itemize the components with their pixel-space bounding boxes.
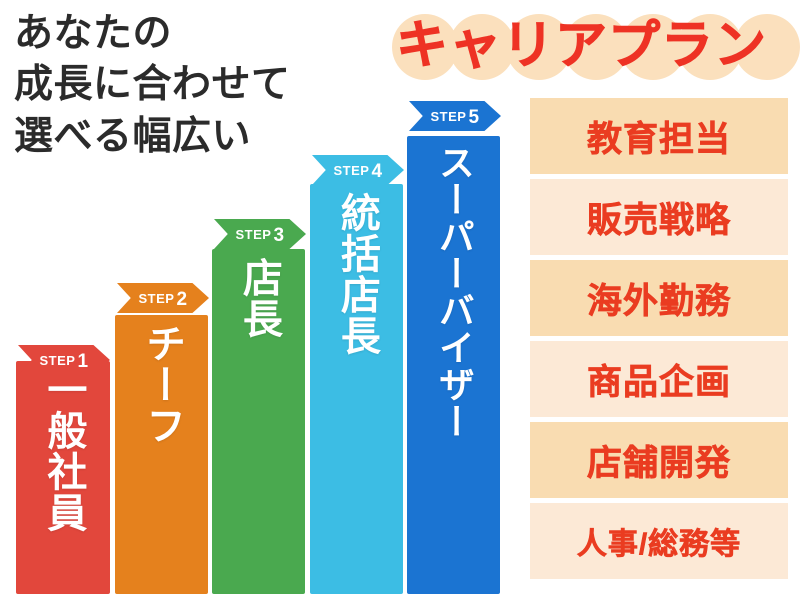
step-position-label-4: 統括店長 [336, 192, 377, 356]
career-option-item[interactable]: 人事/総務等 [530, 503, 788, 579]
step-badge-label-5: STEP [430, 109, 466, 124]
step-badge-label-3: STEP [235, 227, 271, 242]
page-title-text: キャリアプラン [392, 20, 771, 72]
step-bar-5[interactable]: スーパーバイザー [407, 136, 500, 594]
career-option-item[interactable]: 販売戦略 [530, 179, 788, 255]
step-bar-4[interactable]: 統括店長 [310, 184, 403, 594]
step-bar-3[interactable]: 店長 [212, 249, 305, 594]
career-option-item[interactable]: 店舗開発 [530, 422, 788, 498]
step-position-label-2: チーフ [141, 323, 182, 446]
step-badge-label-1: STEP [39, 353, 75, 368]
step-bar-2[interactable]: チーフ [115, 315, 208, 594]
step-badge-2[interactable]: STEP2 [117, 283, 209, 313]
career-option-item[interactable]: 教育担当 [530, 98, 788, 174]
step-badge-1[interactable]: STEP1 [18, 345, 110, 375]
step-badge-4[interactable]: STEP4 [312, 155, 404, 185]
step-bar-chart: 一般社員STEP1チーフSTEP2店長STEP3統括店長STEP4スーパーバイザ… [0, 0, 520, 600]
step-badge-number-3: 3 [273, 226, 284, 245]
step-badge-number-2: 2 [176, 290, 187, 309]
step-badge-5[interactable]: STEP5 [409, 101, 501, 131]
step-badge-label-2: STEP [138, 291, 174, 306]
career-option-item[interactable]: 商品企画 [530, 341, 788, 417]
step-position-label-1: 一般社員 [43, 369, 84, 533]
step-badge-number-5: 5 [468, 108, 479, 127]
step-badge-3[interactable]: STEP3 [214, 219, 306, 249]
career-options-list: 教育担当販売戦略海外勤務商品企画店舗開発人事/総務等 [530, 98, 788, 579]
step-position-label-5: スーパーバイザー [435, 144, 472, 440]
step-badge-number-4: 4 [371, 162, 382, 181]
step-position-label-3: 店長 [238, 257, 279, 339]
step-badge-number-1: 1 [77, 352, 88, 371]
step-bar-1[interactable]: 一般社員 [16, 361, 110, 594]
step-badge-label-4: STEP [333, 163, 369, 178]
career-plan-infographic: あなたの 成長に合わせて 選べる幅広い キャリアプラン 一般社員STEP1チーフ… [0, 0, 800, 600]
career-option-item[interactable]: 海外勤務 [530, 260, 788, 336]
page-title: キャリアプラン [392, 6, 771, 86]
